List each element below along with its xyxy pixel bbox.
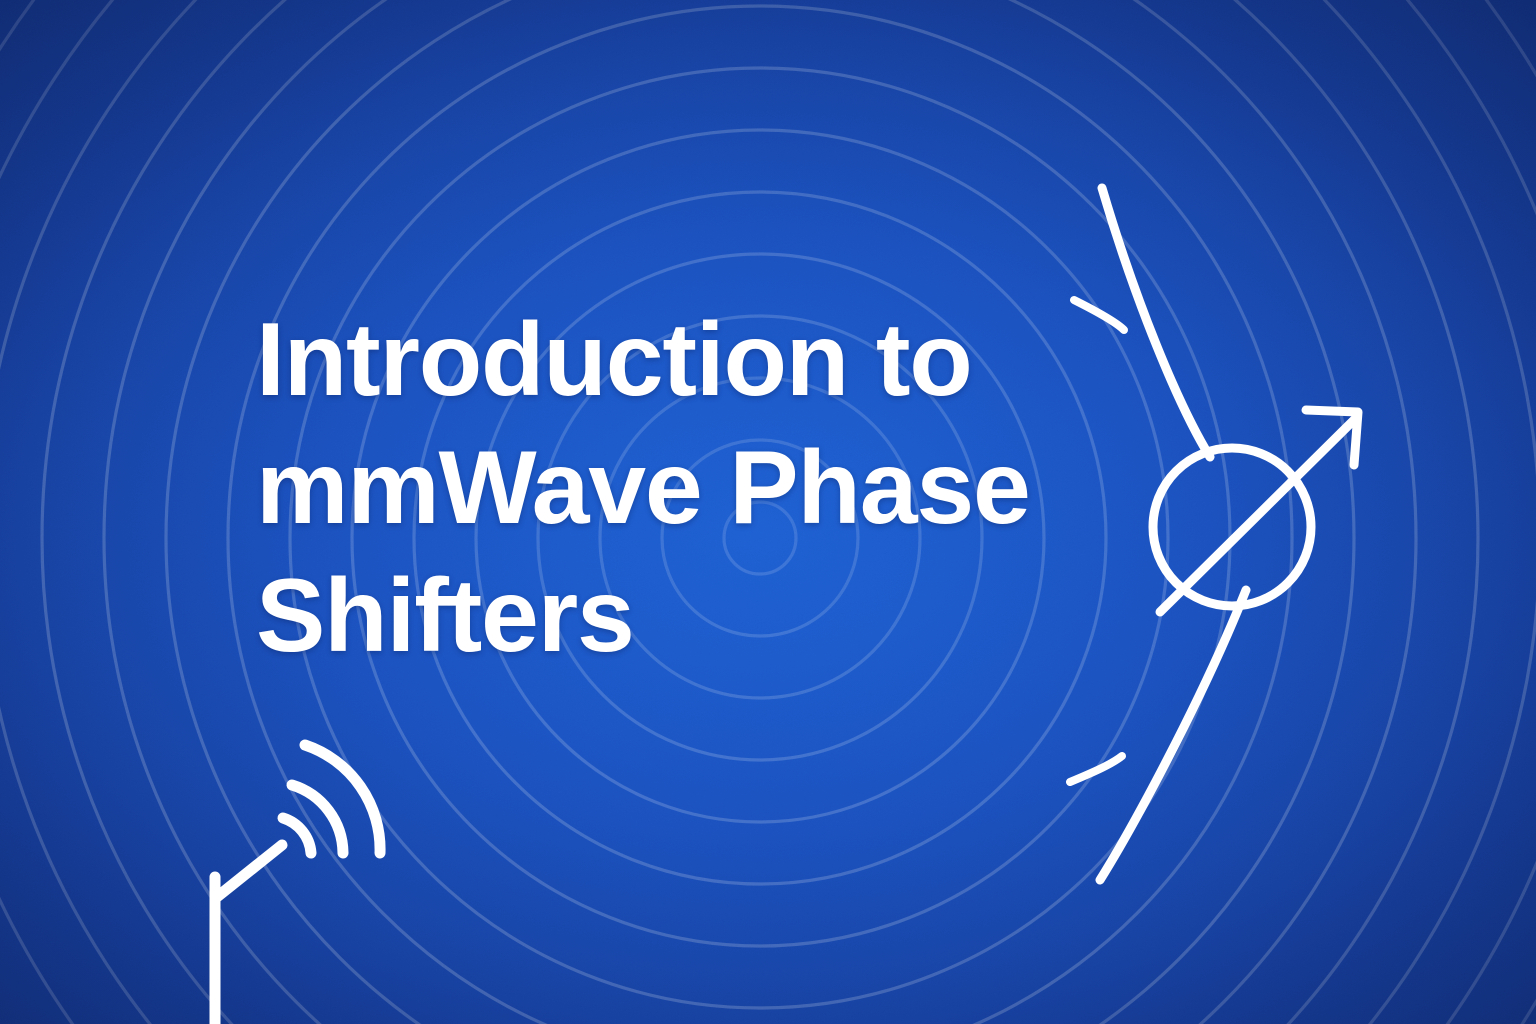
title-line-1: Introduction to — [256, 296, 1086, 424]
phase-shifter-icon — [1050, 160, 1410, 900]
page-title: Introduction to mmWave Phase Shifters — [256, 296, 1086, 680]
accent-arc-top — [1074, 300, 1124, 330]
antenna-signal-icon — [175, 700, 455, 1024]
title-line-2: mmWave Phase — [256, 424, 1086, 552]
phase-arrow-shaft — [1160, 418, 1356, 612]
title-card-canvas: Introduction to mmWave Phase Shifters — [0, 0, 1536, 1024]
signal-arc-middle — [292, 785, 343, 853]
phase-shifter-circle — [1153, 448, 1311, 606]
signal-arc-inner — [283, 818, 311, 853]
title-line-3: Shifters — [256, 552, 1086, 680]
transmission-line-bottom — [1100, 590, 1246, 880]
accent-arc-bottom — [1070, 756, 1122, 782]
antenna-element — [217, 845, 282, 897]
